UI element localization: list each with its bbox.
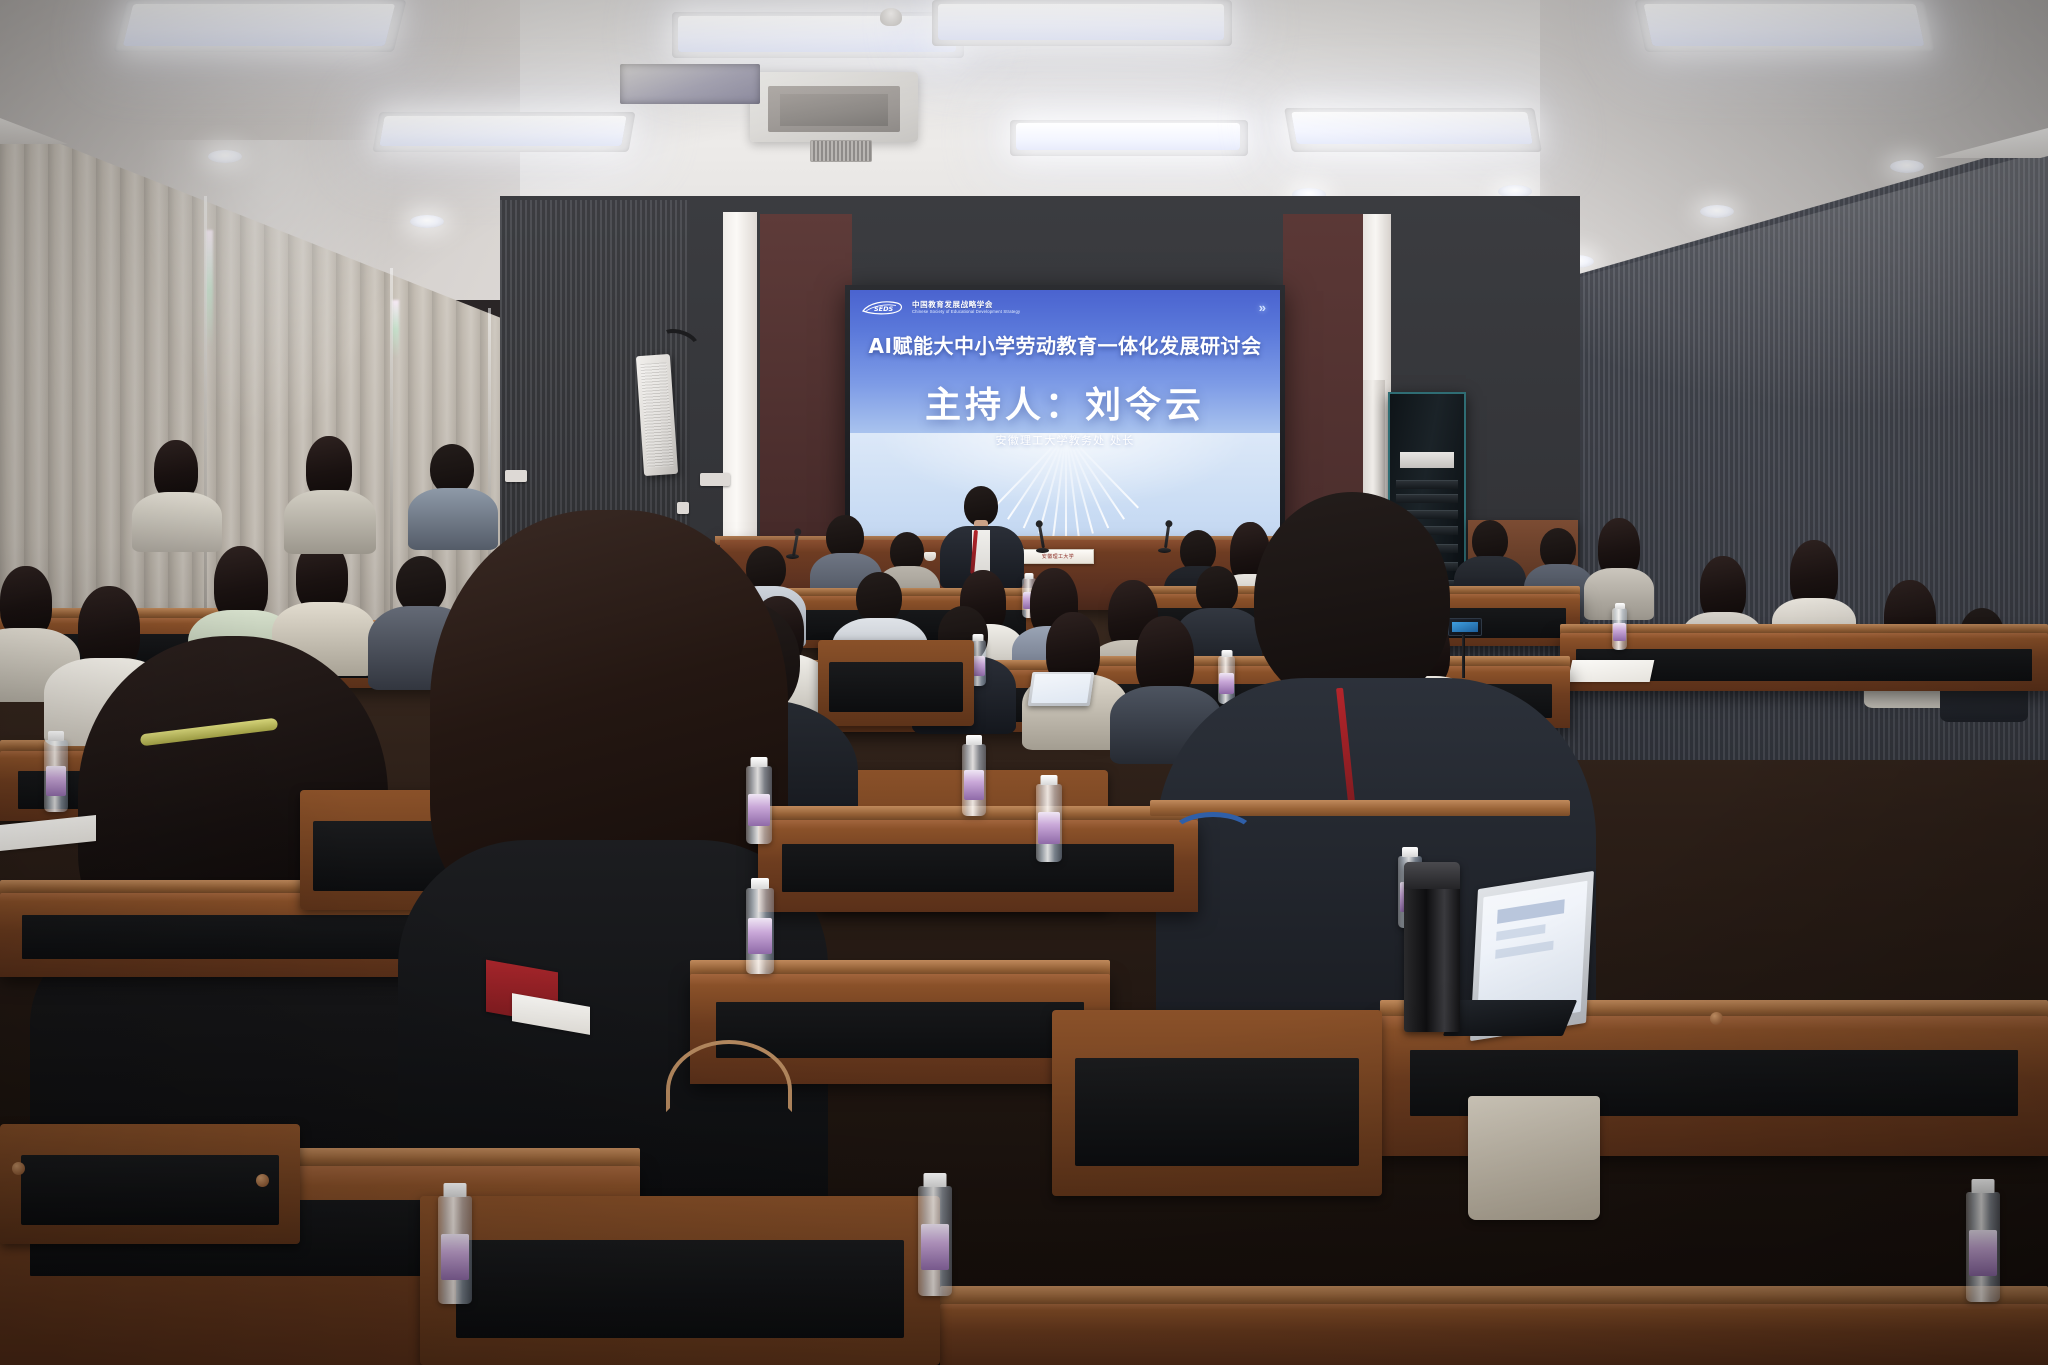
- smoke-detector-icon: [880, 8, 902, 26]
- wall-socket: [677, 502, 689, 514]
- projection-screen[interactable]: SEDS 中国教育发展战略学会 Chinese Society of Educa…: [845, 285, 1285, 543]
- svg-text:SEDS: SEDS: [874, 305, 894, 313]
- slide-host-line: 主持人：刘令云: [850, 376, 1280, 428]
- curtain-light-leak: [392, 300, 399, 358]
- linear-panel-light: [678, 16, 956, 52]
- desk-knob: [1710, 1012, 1723, 1025]
- recessed-downlight: [1700, 205, 1734, 218]
- microphone-base: [1036, 548, 1049, 553]
- name-placard: 安徽理工大学: [1022, 549, 1094, 564]
- linear-panel-light: [1644, 4, 1925, 46]
- av-shelf: [1396, 480, 1458, 489]
- slide-org-name-cn: 中国教育发展战略学会: [912, 301, 1020, 310]
- recessed-downlight: [1890, 160, 1924, 173]
- ac-cassette-unit: [750, 72, 918, 142]
- linear-panel-light: [1291, 112, 1533, 144]
- av-shelf: [1396, 494, 1458, 503]
- chevron-right-icon: »: [1259, 301, 1266, 314]
- air-vent: [810, 140, 872, 162]
- water-bottle: [746, 888, 774, 974]
- conference-room-photo: SEDS 中国教育发展战略学会 Chinese Society of Educa…: [0, 0, 2048, 1365]
- linear-panel-light: [938, 4, 1224, 40]
- slide-road-graphic: [850, 433, 1280, 537]
- water-bottle: [746, 766, 772, 844]
- desk-knob: [256, 1174, 269, 1187]
- water-bottle: [44, 740, 68, 812]
- microphone-base: [1158, 548, 1171, 553]
- linear-panel-light: [379, 116, 626, 146]
- desk-row-nearest: [940, 1304, 2048, 1365]
- chair-back: [0, 1124, 300, 1244]
- wall-plate: [505, 470, 527, 482]
- recessed-downlight: [208, 150, 242, 163]
- tote-bag: [1468, 1096, 1600, 1220]
- cseds-logo-icon: SEDS: [862, 299, 904, 316]
- linear-panel-light: [123, 4, 395, 46]
- teacup: [924, 552, 936, 561]
- water-bottle: [918, 1186, 952, 1296]
- slide-org-name-en: Chinese Society of Educational Developme…: [912, 309, 1020, 314]
- water-bottle: [1036, 784, 1062, 862]
- water-bottle: [1612, 608, 1627, 650]
- laptop[interactable]: [1028, 672, 1095, 706]
- curtain-seam: [390, 268, 393, 628]
- paper-sheet: [1568, 660, 1655, 682]
- slide-header: SEDS 中国教育发展战略学会 Chinese Society of Educa…: [862, 299, 1020, 316]
- slide-title: AI赋能大中小学劳动教育一体化发展研讨会: [850, 330, 1280, 359]
- thermos-flask: [1404, 862, 1460, 1032]
- desk-knob: [12, 1162, 25, 1175]
- water-bottle: [962, 744, 986, 816]
- water-bottle: [1966, 1192, 2000, 1302]
- tripod-stand: [1462, 634, 1465, 678]
- water-bottle: [438, 1196, 472, 1304]
- chair-back: [1052, 1010, 1382, 1196]
- slide-surface: SEDS 中国教育发展战略学会 Chinese Society of Educa…: [850, 290, 1280, 537]
- curtain-light-leak: [206, 230, 213, 348]
- chair-back: [818, 640, 974, 726]
- slide-affiliation: 安徽理工大学教务处 处长: [850, 432, 1280, 448]
- wall-plate: [700, 473, 730, 486]
- chair-back: [420, 1196, 940, 1365]
- curtain-seam: [204, 196, 207, 616]
- projector-recess: [620, 64, 760, 104]
- linear-panel-light: [1016, 123, 1240, 150]
- blue-cable: [1170, 812, 1256, 858]
- desk-row-foreground: [758, 820, 1198, 912]
- water-bottle: [1218, 656, 1235, 704]
- recessed-downlight: [410, 215, 444, 228]
- av-faceplate: [1400, 452, 1454, 468]
- smartphone: [1448, 618, 1482, 636]
- laptop-base[interactable]: [1443, 1000, 1578, 1036]
